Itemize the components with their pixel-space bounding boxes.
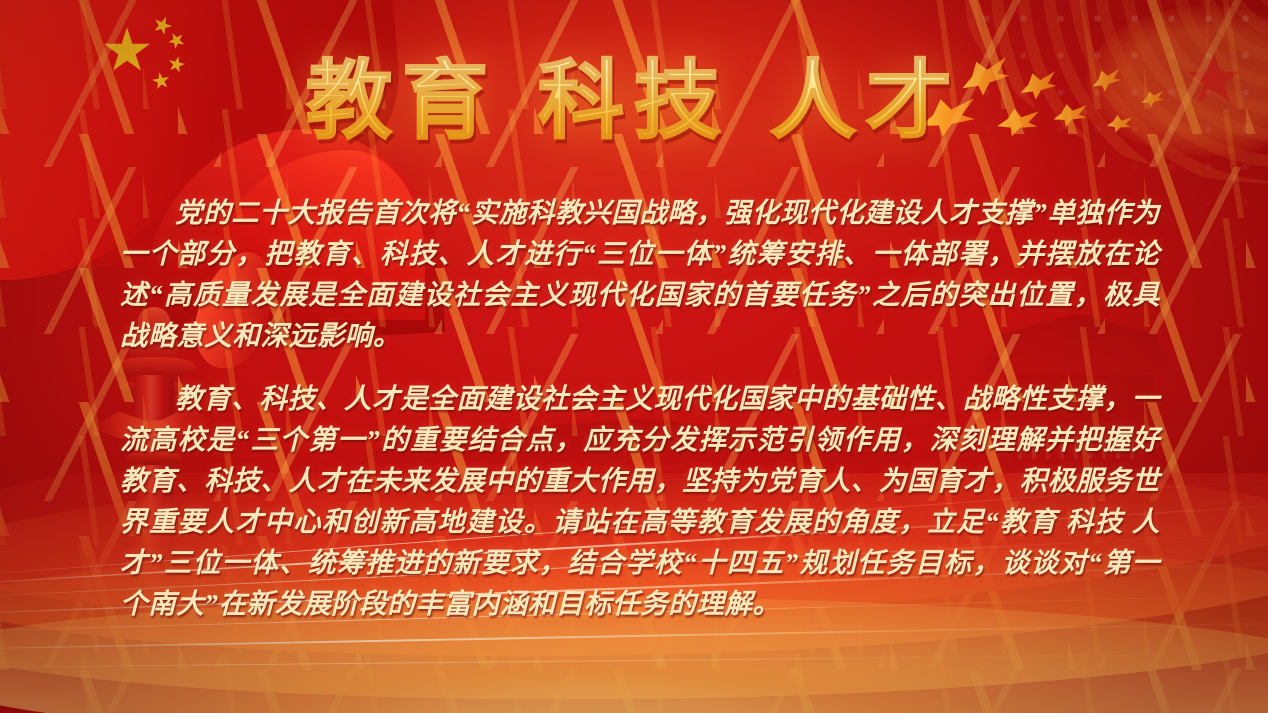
poster-canvas: 教育 科技 人才 党的二十大报告首次将“实施科教兴国战略，强化现代化建设人才支撑…: [0, 0, 1268, 713]
paragraph-2: 教育、科技、人才是全面建设社会主义现代化国家中的基础性、战略性支撑，一流高校是“…: [120, 378, 1160, 624]
poster-title: 教育 科技 人才: [0, 56, 1268, 146]
poster-content: 教育 科技 人才 党的二十大报告首次将“实施科教兴国战略，强化现代化建设人才支撑…: [0, 0, 1268, 713]
poster-body: 党的二十大报告首次将“实施科教兴国战略，强化现代化建设人才支撑”单独作为一个部分…: [120, 192, 1160, 624]
paragraph-1: 党的二十大报告首次将“实施科教兴国战略，强化现代化建设人才支撑”单独作为一个部分…: [120, 192, 1160, 356]
